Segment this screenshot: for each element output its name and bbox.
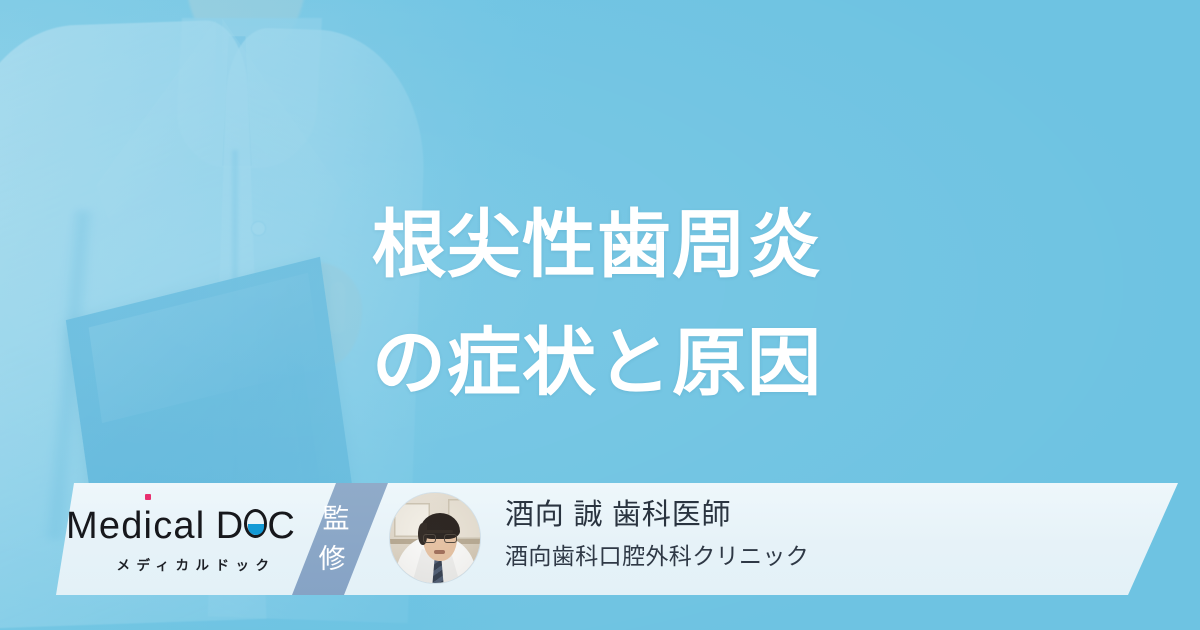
doctor-name: 酒向 誠 歯科医師 xyxy=(505,495,809,535)
logo-capsule-o-icon xyxy=(244,509,267,538)
credit-bar-content: MedicalDC メディカルドック 監 修 xyxy=(0,483,1200,595)
headline-line-2: の症状と原因 xyxy=(372,304,1092,422)
doctor-clinic: 酒向歯科口腔外科クリニック xyxy=(505,539,809,573)
logo-kana-subtitle: メディカルドック xyxy=(66,554,296,574)
logo-pink-dot-icon xyxy=(145,494,151,500)
logo-letters-cal: cal xyxy=(153,507,205,545)
supervision-char-1: 監 xyxy=(323,499,350,539)
headline-line-1: 根尖性歯周炎 xyxy=(372,186,1092,304)
medical-doc-logo[interactable]: MedicalDC メディカルドック xyxy=(66,507,296,574)
logo-letter-d: D xyxy=(216,507,245,545)
supervision-char-2: 修 xyxy=(319,539,346,579)
logo-letters-ed: ed xyxy=(99,507,144,545)
credit-bar: MedicalDC メディカルドック 監 修 xyxy=(0,483,1200,595)
logo-letter-m: M xyxy=(66,507,99,545)
avatar-softening-overlay xyxy=(390,493,480,583)
logo-letter-i: i xyxy=(144,507,154,545)
logo-letter-i-stem: i xyxy=(144,505,154,547)
avatar[interactable] xyxy=(390,493,480,583)
supervision-label: 監 修 xyxy=(306,497,366,581)
thumbnail-card: 根尖性歯周炎 の症状と原因 MedicalDC メディカルドック 監 修 xyxy=(0,0,1200,630)
headline: 根尖性歯周炎 の症状と原因 xyxy=(372,186,1092,422)
logo-letter-c: C xyxy=(267,507,296,545)
logo-wordmark: MedicalDC xyxy=(66,507,296,547)
doctor-info: 酒向 誠 歯科医師 酒向歯科口腔外科クリニック xyxy=(505,495,809,573)
